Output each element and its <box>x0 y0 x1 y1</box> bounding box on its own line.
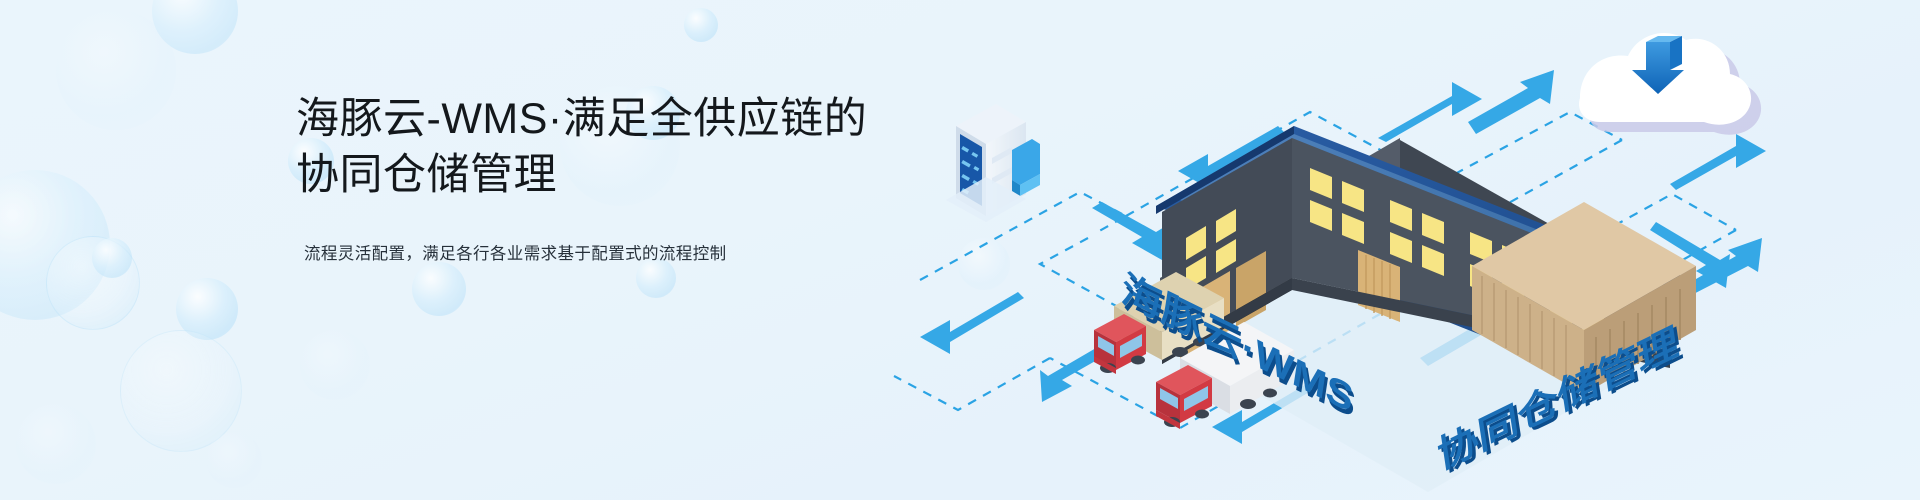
bubble-decoration <box>412 262 466 316</box>
page-title-line2: 协同仓储管理 <box>296 148 916 204</box>
cloud-download-icon <box>1579 33 1761 135</box>
bubble-decoration <box>92 238 132 278</box>
bubble-decoration <box>0 170 110 320</box>
bubble-decoration <box>176 278 238 340</box>
bubble-decoration <box>636 258 676 298</box>
bubble-decoration <box>16 404 96 484</box>
bubble-decoration <box>56 10 176 130</box>
bubble-decoration <box>152 0 238 54</box>
bubble-decoration <box>206 432 262 488</box>
hero-copy: 海豚云-WMS·满足全供应链的 协同仓储管理 流程灵活配置，满足各行各业需求基于… <box>296 92 916 264</box>
page-title-line1: 海豚云-WMS·满足全供应链的 <box>296 92 916 148</box>
bubble-decoration <box>46 236 140 330</box>
bubble-decoration <box>300 330 370 400</box>
bubble-decoration <box>684 8 718 42</box>
bubble-decoration <box>120 330 242 452</box>
page-subtitle: 流程灵活配置，满足各行各业需求基于配置式的流程控制 <box>304 240 916 264</box>
hero-banner: 海豚云-WMS·满足全供应链的 协同仓储管理 流程灵活配置，满足各行各业需求基于… <box>0 0 1920 500</box>
warehouse-illustration: 海豚云·WMS 海豚云·WMS 协同仓储管理 协同仓储管理 <box>880 0 1920 500</box>
server-rack-icon <box>946 104 1040 222</box>
